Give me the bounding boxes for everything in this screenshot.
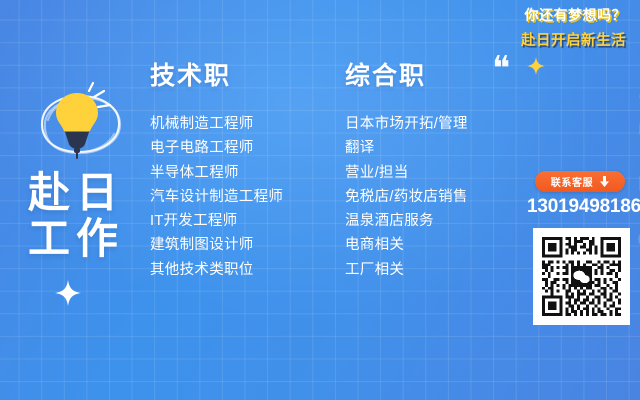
list-item[interactable]: 汽车设计制造工程师 [150,185,283,209]
brand-title-line-2: 工作 [28,216,124,262]
list-item[interactable]: 翻译 [345,136,468,160]
column-heading-general: 综合职 [345,62,468,90]
white-star-icon [55,280,81,306]
slogan-line-1: 你还有梦想吗？ [525,5,627,25]
list-item[interactable]: 日本市场开拓/管理 [345,112,468,136]
column-general: 综合职 日本市场开拓/管理 翻译 营业/担当 免税店/药妆店销售 温泉酒店服务 … [345,62,468,282]
job-list-technical: 机械制造工程师 电子电路工程师 半导体工程师 汽车设计制造工程师 IT开发工程师… [150,112,283,282]
list-item[interactable]: 半导体工程师 [150,161,283,185]
list-item[interactable]: IT开发工程师 [150,209,283,233]
list-item[interactable]: 机械制造工程师 [150,112,283,136]
list-item[interactable]: 温泉酒店服务 [345,209,468,233]
phone-number[interactable]: 13019498186 [527,196,633,218]
brand-title-line-1: 赴日 [28,170,124,216]
lightbulb-icon [22,80,132,172]
arrow-down-icon [600,176,609,187]
list-item[interactable]: 电子电路工程师 [150,136,283,160]
list-item[interactable]: 免税店/药妆店销售 [345,185,468,209]
list-item[interactable]: 建筑制图设计师 [150,233,283,257]
quote-mark-icon: ❝ [492,52,510,86]
wechat-qr-code[interactable] [533,228,630,325]
list-item[interactable]: 营业/担当 [345,161,468,185]
list-item[interactable]: 工厂相关 [345,258,468,282]
list-item[interactable]: 电商相关 [345,233,468,257]
list-item[interactable]: 其他技术类职位 [150,258,283,282]
page-title: 赴日 工作 [28,170,124,262]
slogan-line-2: 赴日开启新生活 [521,29,626,50]
column-technical: 技术职 机械制造工程师 电子电路工程师 半导体工程师 汽车设计制造工程师 IT开… [150,62,283,282]
contact-support-button[interactable]: 联系客服 [535,171,625,192]
yellow-star-icon [527,57,545,75]
job-list-general: 日本市场开拓/管理 翻译 营业/担当 免税店/药妆店销售 温泉酒店服务 电商相关… [345,112,468,282]
poster-canvas: 你还有梦想吗？ 赴日开启新生活 ❝ JOIN US [0,0,640,400]
contact-support-label: 联系客服 [551,174,593,189]
join-us-vertical-text: JOIN US [634,82,640,278]
column-heading-technical: 技术职 [150,62,283,90]
